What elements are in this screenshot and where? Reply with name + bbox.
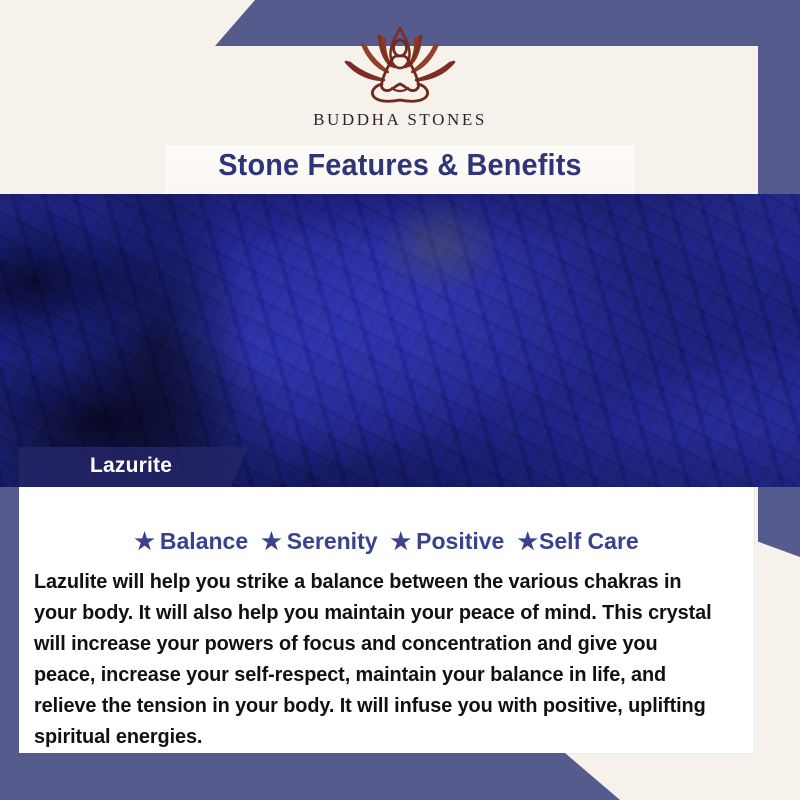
benefits-list: ★ Balance ★ Serenity ★ Positive ★ Self C…	[19, 528, 754, 555]
decoration-right-bar-lower	[758, 487, 800, 557]
brand-logo: BUDDHA STONES	[0, 22, 800, 130]
benefit-label: Positive	[416, 528, 504, 555]
benefit-item: ★ Positive	[391, 528, 505, 555]
lotus-meditation-icon	[336, 22, 464, 108]
decoration-left-bar	[0, 487, 19, 753]
star-icon: ★	[517, 530, 538, 553]
stone-photo-shading	[0, 194, 800, 487]
page-title: Stone Features & Benefits	[181, 147, 618, 183]
star-icon: ★	[261, 530, 282, 553]
star-icon: ★	[391, 530, 412, 553]
benefit-label: Balance	[160, 528, 248, 555]
benefit-label: Serenity	[287, 528, 378, 555]
stone-name: Lazurite	[90, 454, 172, 478]
benefit-item: ★ Balance	[134, 528, 248, 555]
stone-photo	[0, 194, 800, 487]
star-icon: ★	[134, 530, 155, 553]
brand-name: BUDDHA STONES	[313, 110, 487, 130]
decoration-bottom-bar	[0, 753, 620, 800]
benefit-item: ★ Self Care	[517, 528, 638, 555]
benefit-item: ★ Serenity	[261, 528, 377, 555]
benefit-label: Self Care	[539, 528, 639, 555]
infographic-poster: BUDDHA STONES Stone Features & Benefits …	[0, 0, 800, 800]
stone-description: Lazulite will help you strike a balance …	[34, 566, 723, 752]
